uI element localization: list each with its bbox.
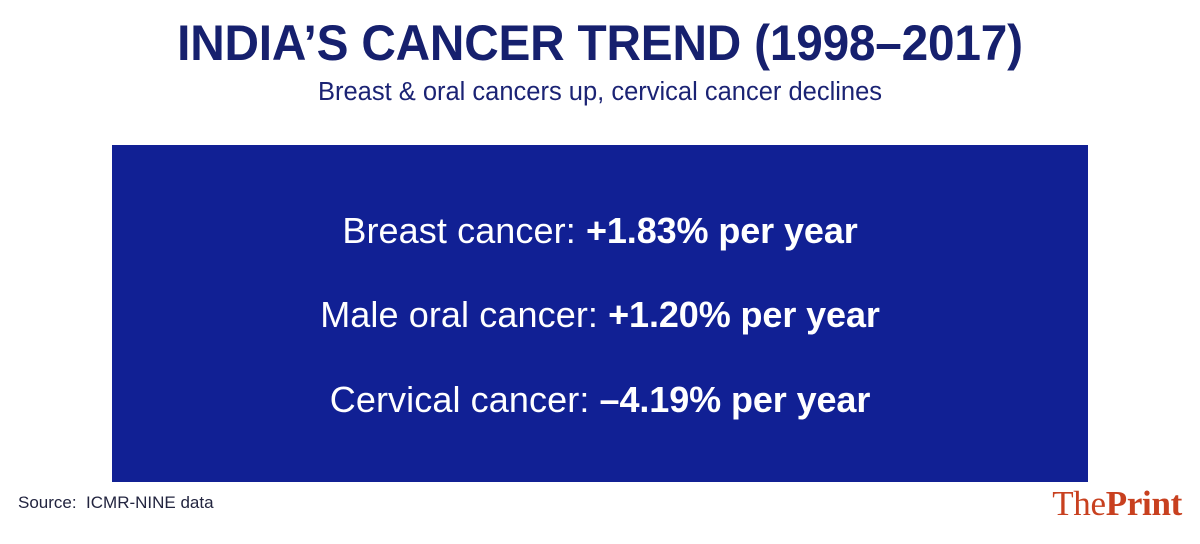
theprint-logo: ThePrint bbox=[1052, 483, 1182, 525]
infographic-card: INDIA’S CANCER TREND (1998–2017) Breast … bbox=[0, 0, 1200, 544]
logo-text-the: The bbox=[1052, 484, 1106, 523]
header: INDIA’S CANCER TREND (1998–2017) Breast … bbox=[0, 0, 1200, 107]
stat-row: Male oral cancer: +1.20% per year bbox=[112, 273, 1088, 357]
stat-label-breast-cancer: Breast cancer: bbox=[342, 210, 586, 251]
stat-label-cervical-cancer: Cervical cancer: bbox=[330, 379, 600, 420]
footer: Source: ICMR-NINE data ThePrint bbox=[0, 482, 1200, 544]
stat-value-breast-cancer: +1.83% per year bbox=[586, 210, 858, 251]
page-title: INDIA’S CANCER TREND (1998–2017) bbox=[27, 0, 1173, 70]
stat-row: Cervical cancer: –4.19% per year bbox=[112, 358, 1088, 442]
stat-row: Breast cancer: +1.83% per year bbox=[112, 189, 1088, 273]
logo-text-print: Print bbox=[1106, 484, 1182, 523]
stat-value-cervical-cancer: –4.19% per year bbox=[600, 379, 871, 420]
page-subtitle: Breast & oral cancers up, cervical cance… bbox=[0, 70, 1200, 107]
stat-value-male-oral-cancer: +1.20% per year bbox=[608, 294, 880, 335]
source-attribution: Source: ICMR-NINE data bbox=[18, 493, 214, 513]
stat-label-male-oral-cancer: Male oral cancer: bbox=[320, 294, 608, 335]
statistics-panel: Breast cancer: +1.83% per year Male oral… bbox=[112, 145, 1088, 482]
